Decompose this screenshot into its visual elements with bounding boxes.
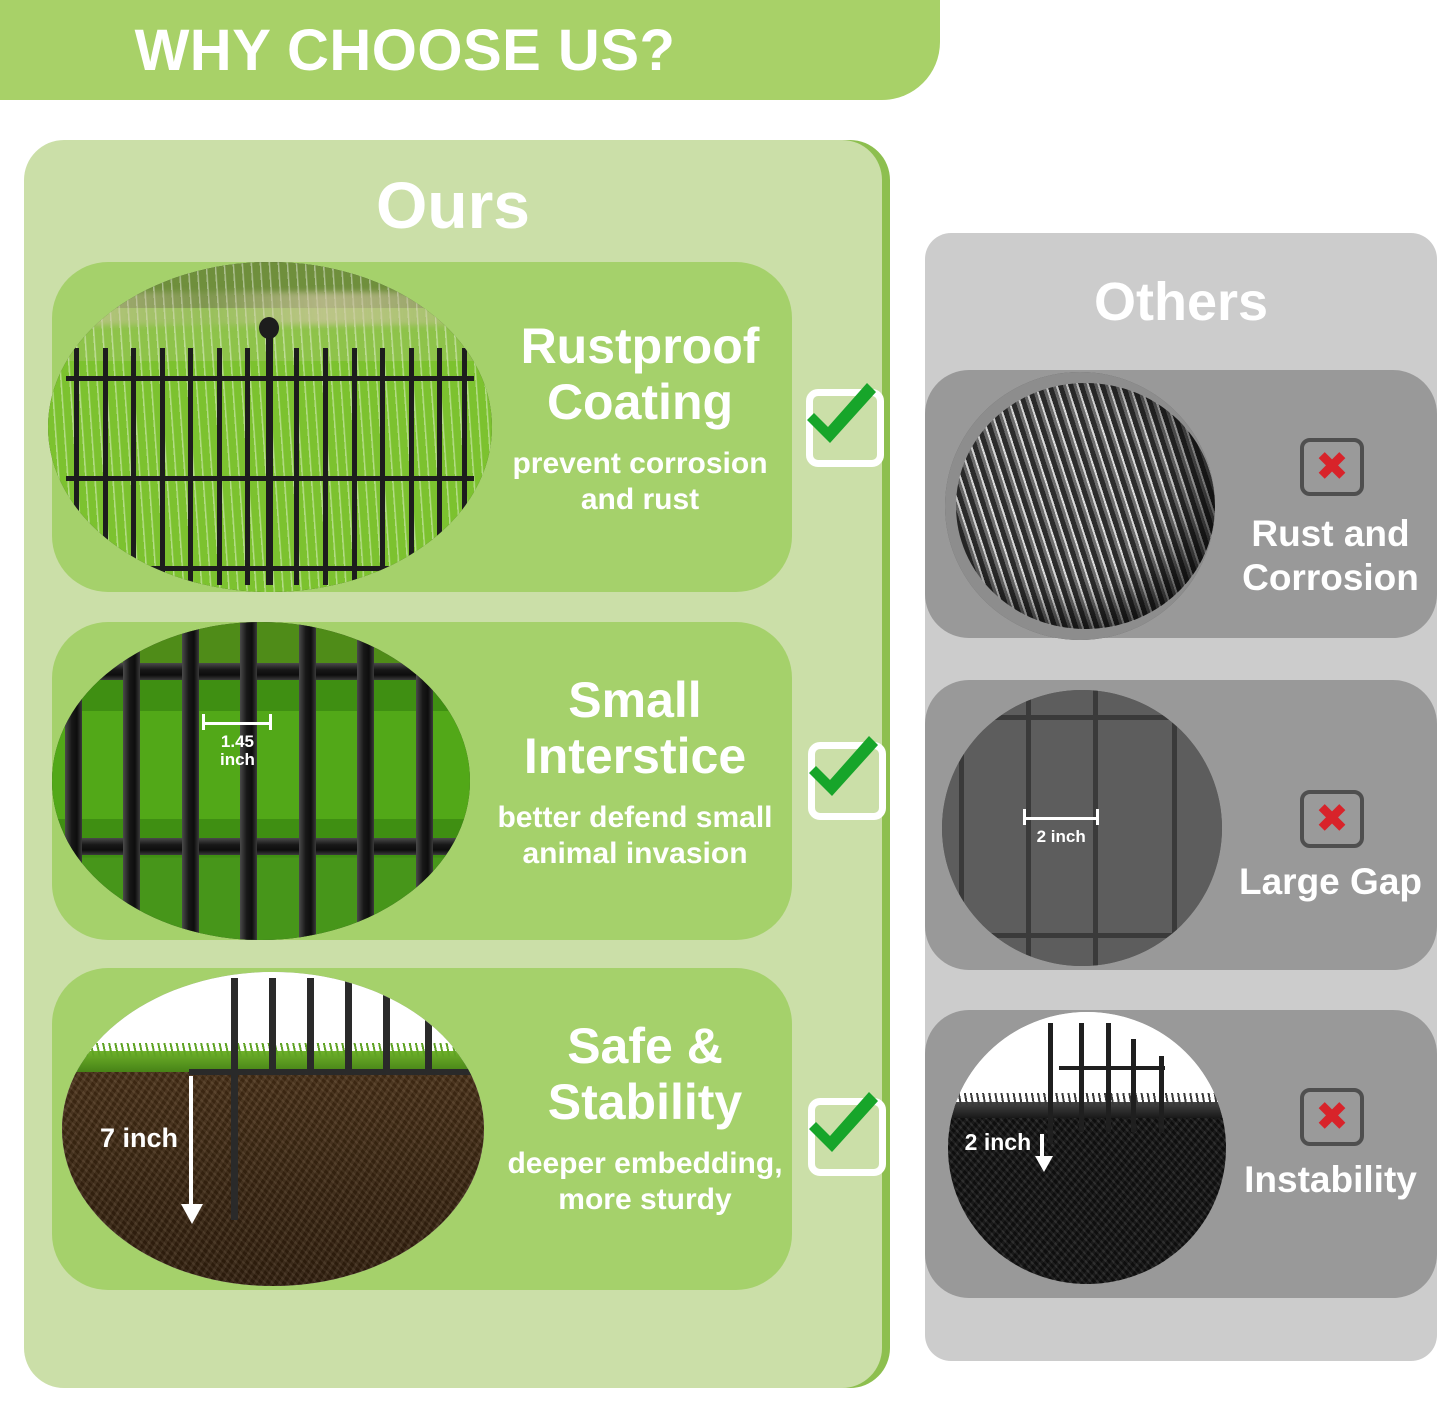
measure-bracket-icon	[202, 714, 272, 730]
others-feature-1-label: Rust and Corrosion	[1228, 512, 1433, 601]
x-icon-box-1: ✖	[1300, 438, 1364, 496]
ours-feature-2-title: Small Interstice	[455, 672, 815, 784]
x-icon-2: ✖	[1315, 799, 1349, 839]
ours-feature-1-title: Rustproof Coating	[470, 318, 810, 430]
check-icon-2	[803, 726, 881, 804]
shallow-depth-arrow-head-icon	[1035, 1156, 1053, 1172]
page-title: WHY CHOOSE US?	[0, 0, 810, 100]
interstice-measurement-value: 1.45 inch	[202, 733, 272, 769]
wide-mesh-graphic: 2 inch	[942, 690, 1222, 966]
soil-cross-section-graphic: 7 inch	[62, 972, 484, 1286]
others-heading: Others	[925, 250, 1437, 354]
gap-measurement-label: 2 inch	[1023, 809, 1099, 846]
interstice-measurement-label: 1.45 inch	[202, 714, 272, 769]
others-feature-2-label: Large Gap	[1228, 860, 1433, 904]
shallow-stake-in-soil-photo: 2 inch	[948, 1012, 1226, 1284]
gap-measurement-value: 2 inch	[1023, 828, 1099, 846]
x-icon-3: ✖	[1315, 1097, 1349, 1137]
ours-heading: Ours	[24, 150, 882, 260]
ours-feature-1-subtitle: prevent corrosion and rust	[470, 446, 810, 518]
depth-arrow-head-icon	[181, 1204, 203, 1224]
fence-panel-graphic	[66, 348, 474, 586]
rusty-rolled-wire-mesh-photo	[945, 372, 1215, 640]
shallow-embed-graphic: 2 inch	[948, 1012, 1226, 1284]
wire-mesh-roll-graphic	[945, 372, 1215, 640]
ours-feature-2-text: Small Interstice better defend small ani…	[455, 672, 815, 872]
fence-bar-spacing-closeup-photo: 1.45 inch	[52, 622, 470, 940]
rainy-fence-on-grass-photo	[48, 262, 492, 592]
check-icon-3	[803, 1082, 881, 1160]
ours-feature-1-text: Rustproof Coating prevent corrosion and …	[470, 318, 810, 518]
fence-stake-in-soil-cross-section-photo: 7 inch	[62, 972, 484, 1286]
embed-depth-label: 7 inch	[100, 1123, 178, 1154]
ours-feature-3-subtitle: deeper embedding, more sturdy	[470, 1146, 820, 1218]
ours-feature-3-text: Safe & Stability deeper embedding, more …	[470, 1018, 820, 1218]
x-icon-box-3: ✖	[1300, 1088, 1364, 1146]
ours-feature-3-title: Safe & Stability	[470, 1018, 820, 1130]
check-icon-1	[801, 373, 879, 451]
x-icon-box-2: ✖	[1300, 790, 1364, 848]
depth-arrow-line	[189, 1076, 193, 1208]
header-banner: WHY CHOOSE US?	[0, 0, 940, 100]
ours-feature-2-subtitle: better defend small animal invasion	[455, 800, 815, 872]
others-feature-3-label: Instability	[1228, 1158, 1433, 1202]
shallow-depth-label: 2 inch	[965, 1129, 1031, 1156]
fence-bars-graphic	[52, 622, 470, 940]
x-icon-1: ✖	[1315, 447, 1349, 487]
wide-mesh-gap-closeup-photo: 2 inch	[942, 690, 1222, 966]
measure-bracket-icon-2	[1023, 809, 1099, 825]
